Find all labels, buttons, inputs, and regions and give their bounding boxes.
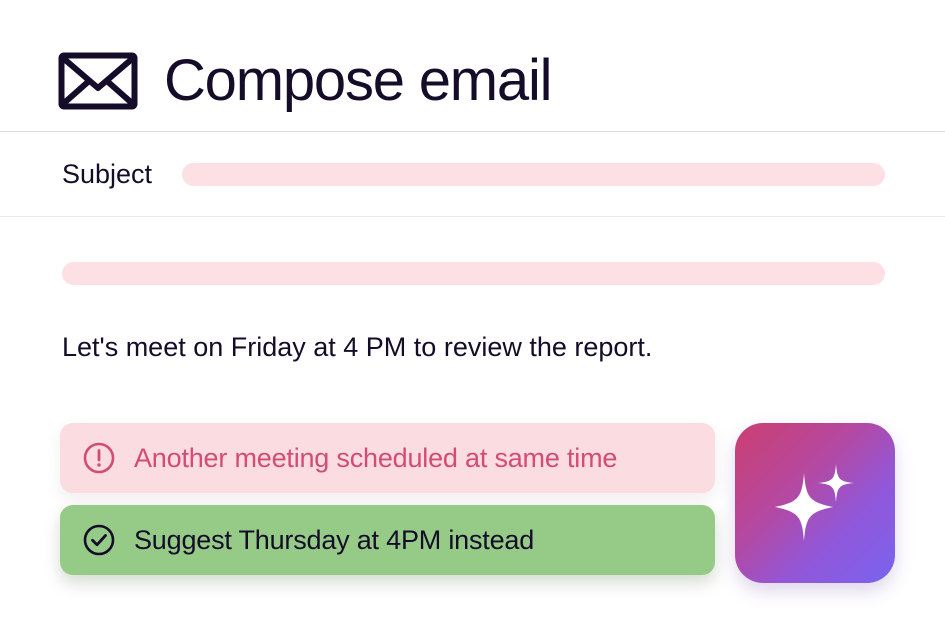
suggestion-alert-text: Suggest Thursday at 4PM instead	[134, 525, 534, 556]
body-input[interactable]	[62, 262, 885, 285]
ai-assist-button[interactable]	[735, 423, 895, 583]
warning-alert-text: Another meeting scheduled at same time	[134, 443, 617, 474]
warning-alert-card[interactable]: Another meeting scheduled at same time	[60, 423, 715, 493]
email-body-area: Let's meet on Friday at 4 PM to review t…	[0, 217, 945, 365]
envelope-icon	[58, 52, 138, 110]
subject-row: Subject	[0, 132, 945, 216]
exclamation-circle-icon	[82, 441, 116, 475]
actions-row: Another meeting scheduled at same time S…	[0, 365, 945, 583]
subject-input[interactable]	[182, 163, 885, 186]
check-circle-icon	[82, 523, 116, 557]
suggestion-stack: Another meeting scheduled at same time S…	[60, 423, 715, 575]
body-text[interactable]: Let's meet on Friday at 4 PM to review t…	[62, 330, 885, 365]
subject-label: Subject	[62, 159, 152, 190]
suggestion-alert-card[interactable]: Suggest Thursday at 4PM instead	[60, 505, 715, 575]
page-title: Compose email	[164, 52, 551, 110]
compose-email-card: Compose email Subject Let's meet on Frid…	[0, 0, 945, 641]
sparkle-icon	[763, 451, 867, 555]
compose-header: Compose email	[0, 0, 945, 131]
